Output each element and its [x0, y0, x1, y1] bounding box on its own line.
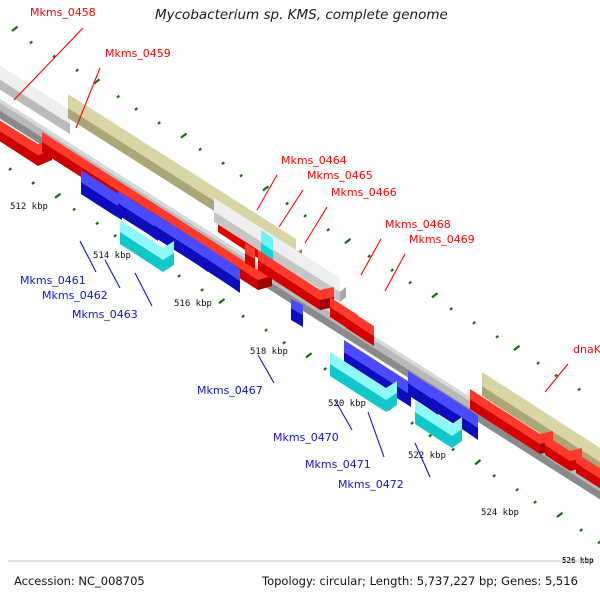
axis-tick-label: 522 kbp: [408, 451, 446, 461]
axis-tick-label: 516 kbp: [174, 299, 212, 309]
gene-label-Mkms_0471[interactable]: Mkms_0471: [305, 458, 371, 471]
gene-label-Mkms_0469[interactable]: Mkms_0469: [409, 233, 475, 246]
axis-tick-label: 514 kbp: [93, 251, 131, 261]
gene-label-Mkms_0463[interactable]: Mkms_0463: [72, 308, 138, 321]
axis-tick-label: 524 kbp: [481, 508, 519, 518]
gene-label-Mkms_0470[interactable]: Mkms_0470: [273, 431, 339, 444]
gene-label-Mkms_0467[interactable]: Mkms_0467: [197, 384, 263, 397]
page-title: Mycobacterium sp. KMS, complete genome: [155, 7, 448, 23]
genome-stats-label: Topology: circular; Length: 5,737,227 bp…: [261, 574, 578, 588]
genome-viewer: Mkms_0458Mkms_0459Mkms_0464Mkms_0465Mkms…: [0, 0, 600, 600]
gene-label-dnaK[interactable]: dnaK: [573, 343, 600, 356]
gene-label-Mkms_0461[interactable]: Mkms_0461: [20, 274, 86, 287]
gene-label-Mkms_0468[interactable]: Mkms_0468: [385, 218, 451, 231]
genome-map-canvas[interactable]: Mkms_0458Mkms_0459Mkms_0464Mkms_0465Mkms…: [0, 0, 600, 600]
gene-label-Mkms_0462[interactable]: Mkms_0462: [42, 289, 108, 302]
axis-tick-label: 518 kbp: [250, 347, 288, 357]
axis-tick-label: 520 kbp: [328, 399, 366, 409]
gene-label-Mkms_0465[interactable]: Mkms_0465: [307, 169, 373, 182]
gene-label-Mkms_0459[interactable]: Mkms_0459: [105, 47, 171, 60]
accession-label: Accession: NC_008705: [14, 574, 145, 588]
gene-label-Mkms_0466[interactable]: Mkms_0466: [331, 186, 397, 199]
axis-tick-label: 512 kbp: [10, 202, 48, 212]
gene-label-Mkms_0464[interactable]: Mkms_0464: [281, 154, 347, 167]
gene-label-Mkms_0472[interactable]: Mkms_0472: [338, 478, 404, 491]
gene-label-Mkms_0458[interactable]: Mkms_0458: [30, 6, 96, 19]
